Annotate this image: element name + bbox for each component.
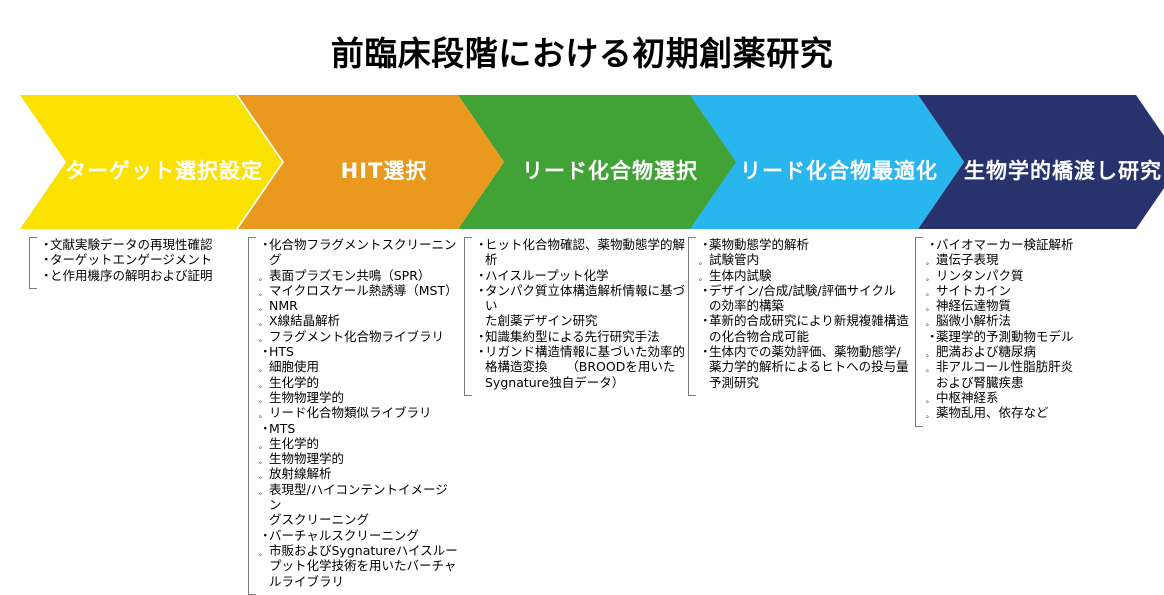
list-item-label: タンパク質立体構造解析情報に基づい た創薬デザイン研究 (485, 283, 685, 329)
list-item-label: 市販およびSygnatureハイスルー プット化学技術を用いたバーチャ ルライブ… (269, 543, 458, 589)
list-item: 。フラグメント化合物ライブラリ (259, 329, 460, 344)
list-item: ・と作用機序の解明および証明 (40, 268, 241, 283)
bullet-list-1: ・文献実験データの再現性確認・ターゲットエンゲージメント・と作用機序の解明および… (40, 237, 241, 283)
bullet-dot-icon: ・ (40, 268, 53, 283)
stage-detail-column-2: ・化合物フラグメントスクリーニング。表面プラズモン共鳴（SPR）。マイクロスケー… (248, 237, 460, 589)
bullet-dot-icon: ・ (475, 329, 488, 344)
stage-detail-column-5: ・バイオマーカー検証解析。遺伝子表現。リンタンパク質。サイトカイン。神経伝達物質… (915, 237, 1120, 421)
list-item-label: 生物物理学的 (269, 451, 344, 466)
list-item-label: と作用機序の解明および証明 (50, 268, 213, 283)
column-bracket-3 (464, 237, 472, 396)
list-item-label: 脳微小解析法 (936, 313, 1011, 328)
bullet-dot-icon: ・ (926, 329, 939, 344)
list-item: 。非アルコール性脂肪肝炎 および腎臓疾患 (926, 359, 1120, 390)
list-item: ・知識集約型による先行研究手法 (475, 329, 689, 344)
bullet-dot-icon: ・ (699, 313, 712, 328)
list-item-label: ハイスループット化学 (485, 268, 609, 283)
list-item: 。肥満および糖尿病 (926, 344, 1120, 359)
list-item-label: 生体内での薬効評価、薬物動態学/ 薬力学的解析によるヒトへの投与量 予測研究 (709, 344, 909, 390)
bullet-dot-icon: ・ (259, 528, 272, 543)
list-item-label: 遺伝子表現 (936, 252, 999, 267)
list-item-label: 細胞使用 (269, 359, 319, 374)
list-item-label: 生化学的 (269, 436, 319, 451)
list-item-label: 中枢神経系 (936, 390, 999, 405)
list-item-label: X線結晶解析 (269, 313, 340, 328)
list-item-label: 非アルコール性脂肪肝炎 および腎臓疾患 (936, 359, 1073, 389)
list-item: 。表現型/ハイコンテントイメージン グスクリーニング (259, 482, 460, 528)
list-item: ・ヒット化合物確認、薬物動態学的解析 (475, 237, 689, 268)
list-item-label: ヒット化合物確認、薬物動態学的解析 (485, 237, 685, 267)
list-item: ・ターゲットエンゲージメント (40, 252, 241, 267)
list-item-label: 生物物理学的 (269, 390, 344, 405)
list-item: ・リガンド構造情報に基づいた効率的 格構造変換 （BROODを用いた Sygna… (475, 344, 689, 390)
bullet-dot-icon: ・ (475, 344, 488, 359)
list-item: ・文献実験データの再現性確認 (40, 237, 241, 252)
list-item-label: マイクロスケール熱誘導（MST） (269, 283, 458, 298)
list-item: 。放射線解析 (259, 466, 460, 481)
list-item-label: 放射線解析 (269, 466, 332, 481)
list-item-label: バーチャルスクリーニング (269, 528, 419, 543)
list-item-label: 表面プラズモン共鳴（SPR） (269, 268, 430, 283)
bullet-list-4: ・薬物動態学的解析。試験管内。生体内試験・デザイン/合成/試験/評価サイクル の… (699, 237, 910, 390)
chevron-label-1: ターゲット選択設定 (20, 161, 282, 182)
bullet-dot-icon: ・ (40, 237, 53, 252)
list-item: 。生体内試験 (699, 268, 910, 283)
process-chevron-band: ターゲット選択設定HIT選択リード化合物選択リード化合物最適化生物学的橋渡し研究 (0, 95, 1164, 229)
list-item: 。リード化合物類似ライブラリ (259, 405, 460, 420)
list-item: ・化合物フラグメントスクリーニング (259, 237, 460, 268)
list-item-label: 神経伝達物質 (936, 298, 1011, 313)
bullet-list-3: ・ヒット化合物確認、薬物動態学的解析・ハイスループット化学・タンパク質立体構造解… (475, 237, 689, 390)
list-item: 。中枢神経系 (926, 390, 1120, 405)
list-item: ・HTS (259, 344, 460, 359)
list-item-label: 革新的合成研究により新規複雑構造 の化合物合成可能 (709, 313, 909, 343)
bullet-list-5: ・バイオマーカー検証解析。遺伝子表現。リンタンパク質。サイトカイン。神経伝達物質… (926, 237, 1120, 421)
bullet-list-2: ・化合物フラグメントスクリーニング。表面プラズモン共鳴（SPR）。マイクロスケー… (259, 237, 460, 589)
list-item: 。薬物乱用、依存など (926, 405, 1120, 420)
bullet-dot-icon: ・ (259, 421, 272, 436)
list-item-label: リード化合物類似ライブラリ (269, 405, 432, 420)
list-item: ・生体内での薬効評価、薬物動態学/ 薬力学的解析によるヒトへの投与量 予測研究 (699, 344, 910, 390)
list-item-label: 生体内試験 (709, 268, 772, 283)
list-item: 。神経伝達物質 (926, 298, 1120, 313)
bullet-dot-icon: ・ (475, 237, 488, 252)
list-item: ・薬物動態学的解析 (699, 237, 910, 252)
list-item: ・革新的合成研究により新規複雑構造 の化合物合成可能 (699, 313, 910, 344)
bullet-hollow-icon: 。 (259, 543, 266, 564)
bullet-dot-icon: ・ (259, 237, 272, 252)
bullet-dot-icon: ・ (475, 268, 488, 283)
bullet-hollow-icon: 。 (926, 405, 933, 426)
list-item-label: NMR (269, 298, 298, 313)
stage-detail-column-1: ・文献実験データの再現性確認・ターゲットエンゲージメント・と作用機序の解明および… (29, 237, 241, 283)
list-item: ・バーチャルスクリーニング (259, 528, 460, 543)
column-bracket-4 (688, 237, 696, 396)
list-item: 。生物物理学的 (259, 451, 460, 466)
list-item-label: リンタンパク質 (936, 268, 1024, 283)
list-item-label: 薬理学的予測動物モデル (936, 329, 1074, 344)
list-item-label: 表現型/ハイコンテントイメージン グスクリーニング (269, 482, 448, 528)
list-item: 。生物物理学的 (259, 390, 460, 405)
list-item: 。サイトカイン (926, 283, 1120, 298)
list-item: 。遺伝子表現 (926, 252, 1120, 267)
stage-detail-column-4: ・薬物動態学的解析。試験管内。生体内試験・デザイン/合成/試験/評価サイクル の… (688, 237, 910, 390)
bullet-dot-icon: ・ (699, 344, 712, 359)
column-bracket-2 (248, 237, 256, 595)
list-item: ・MTS (259, 421, 460, 436)
bullet-dot-icon: ・ (699, 237, 712, 252)
list-item: 。生化学的 (259, 375, 460, 390)
list-item-label: HTS (269, 344, 294, 359)
stage-detail-column-3: ・ヒット化合物確認、薬物動態学的解析・ハイスループット化学・タンパク質立体構造解… (464, 237, 689, 390)
list-item: 。マイクロスケール熱誘導（MST） (259, 283, 460, 298)
bullet-hollow-icon: 。 (259, 482, 266, 503)
list-item-label: 肥満および糖尿病 (936, 344, 1036, 359)
bullet-dot-icon: ・ (259, 344, 272, 359)
list-item: 。生化学的 (259, 436, 460, 451)
list-item: ・タンパク質立体構造解析情報に基づい た創薬デザイン研究 (475, 283, 689, 329)
list-item-label: フラグメント化合物ライブラリ (269, 329, 444, 344)
list-item: 。表面プラズモン共鳴（SPR） (259, 268, 460, 283)
list-item: ・デザイン/合成/試験/評価サイクル の効率的構築 (699, 283, 910, 314)
list-item: 。脳微小解析法 (926, 313, 1120, 328)
list-item-label: サイトカイン (936, 283, 1011, 298)
list-item: 。市販およびSygnatureハイスルー プット化学技術を用いたバーチャ ルライ… (259, 543, 460, 589)
list-item: 。リンタンパク質 (926, 268, 1120, 283)
list-item-label: 試験管内 (709, 252, 759, 267)
list-item-label: リガンド構造情報に基づいた効率的 格構造変換 （BROODを用いた Sygnat… (485, 344, 685, 390)
list-item-label: ターゲットエンゲージメント (50, 252, 212, 267)
list-item-label: バイオマーカー検証解析 (936, 237, 1074, 252)
list-item-label: デザイン/合成/試験/評価サイクル の効率的構築 (709, 283, 896, 313)
process-stage-chevron-1[interactable]: ターゲット選択設定 (20, 95, 282, 229)
list-item-label: 化合物フラグメントスクリーニング (269, 237, 457, 267)
list-item-label: 薬物乱用、依存など (936, 405, 1049, 420)
bullet-dot-icon: ・ (475, 283, 488, 298)
column-bracket-5 (915, 237, 923, 427)
bullet-dot-icon: ・ (926, 237, 939, 252)
list-item-label: 文献実験データの再現性確認 (50, 237, 213, 252)
list-item-label: MTS (269, 421, 295, 436)
bullet-dot-icon: ・ (699, 283, 712, 298)
stage-detail-columns: ・文献実験データの再現性確認・ターゲットエンゲージメント・と作用機序の解明および… (0, 237, 1164, 577)
list-item-label: 薬物動態学的解析 (709, 237, 809, 252)
bullet-dot-icon: ・ (40, 252, 53, 267)
list-item: 。試験管内 (699, 252, 910, 267)
list-item: 。X線結晶解析 (259, 313, 460, 328)
bullet-hollow-icon: 。 (926, 359, 933, 380)
list-item-label: 生化学的 (269, 375, 319, 390)
list-item: ・バイオマーカー検証解析 (926, 237, 1120, 252)
page-title: 前臨床段階における初期創薬研究 (0, 34, 1164, 74)
list-item: 。細胞使用 (259, 359, 460, 374)
list-item: 。NMR (259, 298, 460, 313)
list-item: ・ハイスループット化学 (475, 268, 689, 283)
column-bracket-1 (29, 237, 37, 289)
list-item-label: 知識集約型による先行研究手法 (485, 329, 660, 344)
list-item: ・薬理学的予測動物モデル (926, 329, 1120, 344)
